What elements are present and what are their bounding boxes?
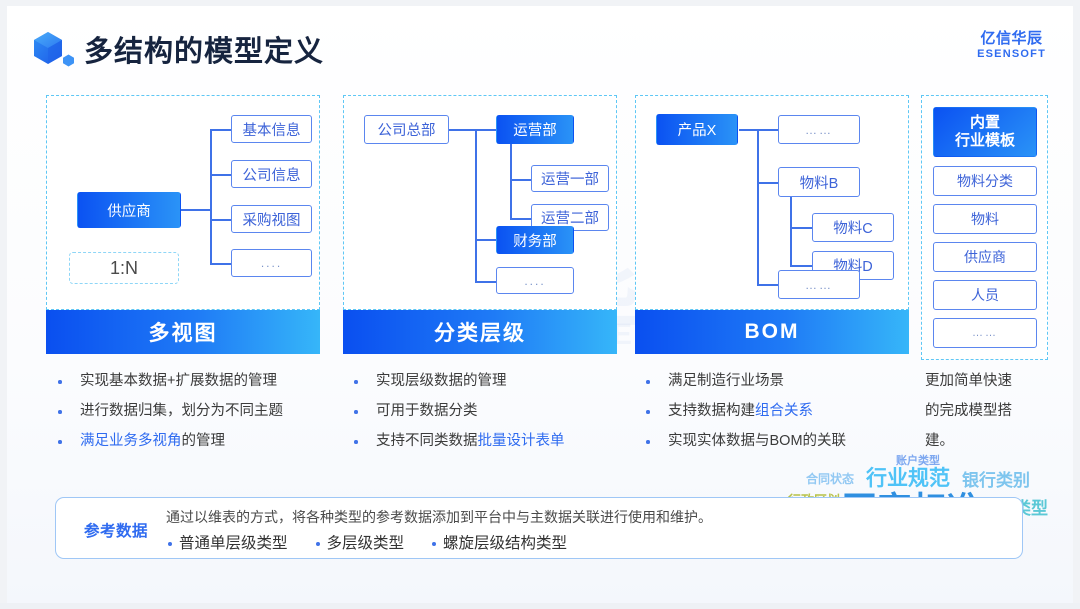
page-edge-right (1073, 0, 1080, 609)
connector-child-dots-1 (757, 129, 779, 131)
bullet-text-highlight: 组合关系 (755, 403, 813, 419)
node-material-c[interactable]: 物料C (812, 213, 894, 242)
bullet-text-highlight: 批量设计表单 (478, 433, 565, 449)
bullet-text: 实现层级数据的管理 (376, 373, 507, 389)
connector-sub-1 (510, 179, 532, 181)
connector-sub-material-d (790, 265, 812, 267)
node-headquarters[interactable]: 公司总部 (364, 115, 449, 144)
connector-child-2 (210, 174, 232, 176)
connector-child-1 (210, 129, 232, 131)
badge-cardinality: 1:N (69, 252, 179, 284)
bullet-text: 进行数据归集，划分为不同主题 (80, 403, 283, 419)
list-item: 支持不同类数据批量设计表单 (348, 426, 633, 456)
template-item-material[interactable]: 物料 (933, 204, 1037, 234)
panel-multi-view-title: 多视图 (46, 310, 320, 354)
reference-type-item: 普通单层级类型 (166, 531, 288, 553)
summary-line: 更加简单快速 (925, 366, 1050, 396)
node-operations-dept-1[interactable]: 运营一部 (531, 165, 609, 192)
connector-sub-spine-3 (790, 196, 792, 266)
node-company-info[interactable]: 公司信息 (231, 160, 312, 188)
connector-vertical-spine-3 (757, 129, 759, 284)
template-header-line2: 行业模板 (955, 132, 1015, 150)
node-more-depts[interactable]: .... (496, 267, 574, 294)
page-title: 多结构的模型定义 (84, 28, 324, 70)
template-column-header: 内置 行业模板 (933, 107, 1037, 157)
node-product-x[interactable]: 产品X (656, 114, 738, 145)
bullet-list-bom: 满足制造行业场景 支持数据构建组合关系 实现实体数据与BOM的关联 (640, 366, 925, 456)
template-item-supplier[interactable]: 供应商 (933, 242, 1037, 272)
template-header-line1: 内置 (970, 114, 1000, 132)
bullet-text: 满足制造行业场景 (668, 373, 784, 389)
connector-child-4 (210, 263, 232, 265)
panel-classification-title: 分类层级 (343, 310, 617, 354)
connector-sub-material-c (790, 227, 812, 229)
cube-logo-dot-icon (62, 54, 75, 67)
connector-child-3 (210, 219, 232, 221)
slide-header: 多结构的模型定义 亿信华辰 ESENSOFT (0, 0, 1080, 88)
builtin-template-column: 内置 行业模板 物料分类 物料 供应商 人员 …… (921, 95, 1048, 360)
bullet-text-highlight: 满足业务多视角 (80, 433, 182, 449)
template-item-more[interactable]: …… (933, 318, 1037, 348)
connector-sub-spine-2 (510, 144, 512, 219)
connector-child-more (475, 281, 497, 283)
connector-vertical-spine-2 (475, 129, 477, 281)
brand-name-en: ESENSOFT (977, 47, 1046, 61)
bullet-text: 的管理 (182, 433, 226, 449)
node-operations-dept[interactable]: 运营部 (496, 115, 574, 144)
page-edge-left (0, 0, 7, 609)
list-item: 满足制造行业场景 (640, 366, 925, 396)
list-item: 进行数据归集，划分为不同主题 (52, 396, 342, 426)
reference-data-type-list: 普通单层级类型 多层级类型 螺旋层级结构类型 (166, 531, 567, 553)
page-edge-bottom (0, 603, 1080, 609)
template-item-personnel[interactable]: 人员 (933, 280, 1037, 310)
summary-line: 的完成模型搭 (925, 396, 1050, 426)
reference-data-label: 参考数据 (72, 519, 160, 541)
node-more-views[interactable]: .... (231, 249, 312, 277)
cube-logo-icon (32, 31, 64, 65)
bullet-text: 实现基本数据+扩展数据的管理 (80, 373, 277, 389)
connector-sub-2 (510, 218, 532, 220)
bullet-text: 实现实体数据与BOM的关联 (668, 433, 846, 449)
connector-child-finance (475, 239, 497, 241)
connector-root-trunk (180, 209, 212, 211)
bullet-list-multi-view: 实现基本数据+扩展数据的管理 进行数据归集，划分为不同主题 满足业务多视角的管理 (52, 366, 342, 456)
template-item-material-category[interactable]: 物料分类 (933, 166, 1037, 196)
panel-classification-hierarchy: 公司总部 运营部 运营一部 运营二部 财务部 .... 分类层级 (343, 95, 617, 354)
node-bom-dots-1[interactable]: …… (778, 115, 860, 144)
reference-data-description: 通过以维表的方式，将各种类型的参考数据添加到平台中与主数据关联进行使用和维护。 (166, 507, 712, 527)
list-item: 满足业务多视角的管理 (52, 426, 342, 456)
node-basic-info[interactable]: 基本信息 (231, 115, 312, 143)
brand-name-cn: 亿信华辰 (977, 30, 1046, 47)
node-finance-dept[interactable]: 财务部 (496, 226, 574, 254)
bullet-text: 可用于数据分类 (376, 403, 478, 419)
list-item: 支持数据构建组合关系 (640, 396, 925, 426)
list-item: 实现基本数据+扩展数据的管理 (52, 366, 342, 396)
node-material-b[interactable]: 物料B (778, 167, 860, 197)
connector-root-trunk-2 (449, 129, 477, 131)
summary-text-block: 更加简单快速 的完成模型搭 建。 (925, 366, 1050, 456)
bullet-text: 支持不同类数据 (376, 433, 478, 449)
connector-root-trunk-3 (739, 129, 759, 131)
connector-child-ops (475, 129, 497, 131)
list-item: 可用于数据分类 (348, 396, 633, 426)
panel-bom-stage: 产品X …… 物料B 物料C 物料D …… (635, 95, 909, 310)
panel-multi-view-stage: 供应商 基本信息 公司信息 采购视图 .... 1:N (46, 95, 320, 310)
slide-canvas: 亿信华辰 ESENSOFT 多结构的模型定义 亿信华辰 ESENSOFT (0, 0, 1080, 609)
reference-data-panel: 参考数据 通过以维表的方式，将各种类型的参考数据添加到平台中与主数据关联进行使用… (55, 497, 1023, 559)
connector-vertical-spine (210, 129, 212, 265)
node-root-supplier[interactable]: 供应商 (77, 192, 181, 228)
bullet-list-classification: 实现层级数据的管理 可用于数据分类 支持不同类数据批量设计表单 (348, 366, 633, 456)
connector-child-material-b (757, 182, 779, 184)
panel-multi-view: 供应商 基本信息 公司信息 采购视图 .... 1:N 多视图 (46, 95, 320, 354)
list-item: 实现层级数据的管理 (348, 366, 633, 396)
reference-type-item: 螺旋层级结构类型 (430, 531, 567, 553)
panel-bom: 产品X …… 物料B 物料C 物料D …… BOM (635, 95, 909, 354)
node-bom-dots-2[interactable]: …… (778, 270, 860, 299)
node-purchase-view[interactable]: 采购视图 (231, 205, 312, 233)
brand-logo: 亿信华辰 ESENSOFT (977, 30, 1046, 61)
panel-classification-stage: 公司总部 运营部 运营一部 运营二部 财务部 .... (343, 95, 617, 310)
reference-type-item: 多层级类型 (314, 531, 405, 553)
bullet-text: 支持数据构建 (668, 403, 755, 419)
panel-bom-title: BOM (635, 310, 909, 354)
connector-child-dots-2 (757, 284, 779, 286)
